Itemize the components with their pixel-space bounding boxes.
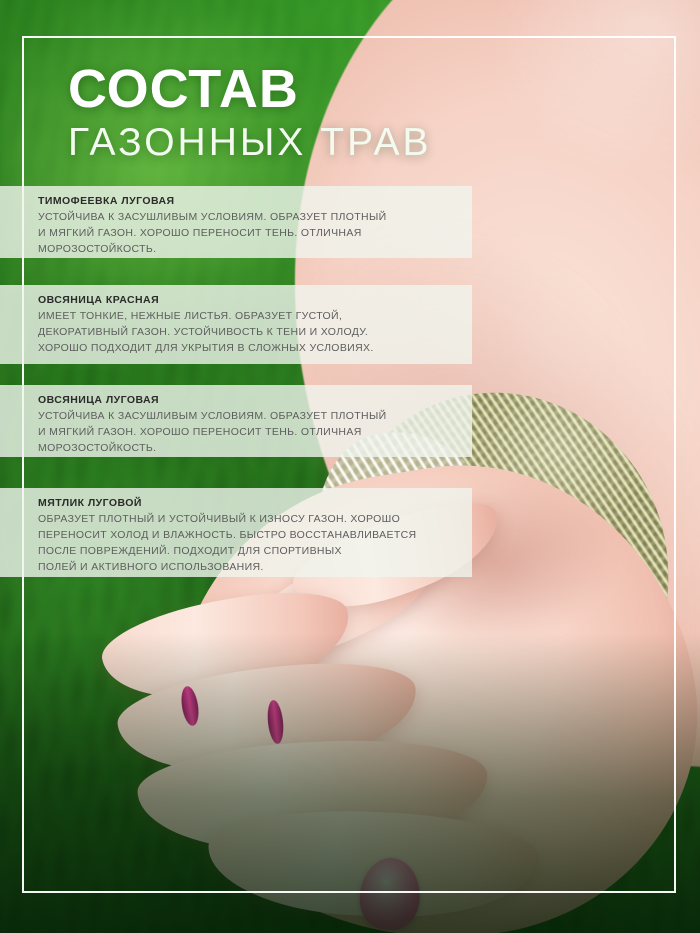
bottom-vignette	[0, 633, 700, 933]
title-sub-line: ГАЗОННЫХ ТРАВ	[68, 123, 432, 164]
poster-title: СОСТАВ ГАЗОННЫХ ТРАВ	[68, 62, 432, 164]
grass-section-2: ОВСЯНИЦА КРАСНАЯ ИМЕЕТ ТОНКИЕ, НЕЖНЫЕ ЛИ…	[0, 285, 472, 364]
poster-canvas: СОСТАВ ГАЗОННЫХ ТРАВ ТИМОФЕЕВКА ЛУГОВАЯ …	[0, 0, 700, 933]
section-1-body: УСТОЙЧИВА К ЗАСУШЛИВЫМ УСЛОВИЯМ. ОБРАЗУЕ…	[38, 210, 472, 258]
section-3-heading: ОВСЯНИЦА ЛУГОВАЯ	[38, 394, 472, 406]
section-4-heading: МЯТЛИК ЛУГОВОЙ	[38, 497, 472, 509]
section-2-heading: ОВСЯНИЦА КРАСНАЯ	[38, 294, 472, 306]
title-main-line: СОСТАВ	[68, 62, 432, 117]
section-3-body: УСТОЙЧИВА К ЗАСУШЛИВЫМ УСЛОВИЯМ. ОБРАЗУЕ…	[38, 409, 472, 457]
section-1-heading: ТИМОФЕЕВКА ЛУГОВАЯ	[38, 195, 472, 207]
grass-section-4: МЯТЛИК ЛУГОВОЙ ОБРАЗУЕТ ПЛОТНЫЙ И УСТОЙЧ…	[0, 488, 472, 577]
grass-section-3: ОВСЯНИЦА ЛУГОВАЯ УСТОЙЧИВА К ЗАСУШЛИВЫМ …	[0, 385, 472, 457]
section-2-body: ИМЕЕТ ТОНКИЕ, НЕЖНЫЕ ЛИСТЬЯ. ОБРАЗУЕТ ГУ…	[38, 309, 472, 357]
section-4-body: ОБРАЗУЕТ ПЛОТНЫЙ И УСТОЙЧИВЫЙ К ИЗНОСУ Г…	[38, 512, 472, 576]
grass-section-1: ТИМОФЕЕВКА ЛУГОВАЯ УСТОЙЧИВА К ЗАСУШЛИВЫ…	[0, 186, 472, 258]
